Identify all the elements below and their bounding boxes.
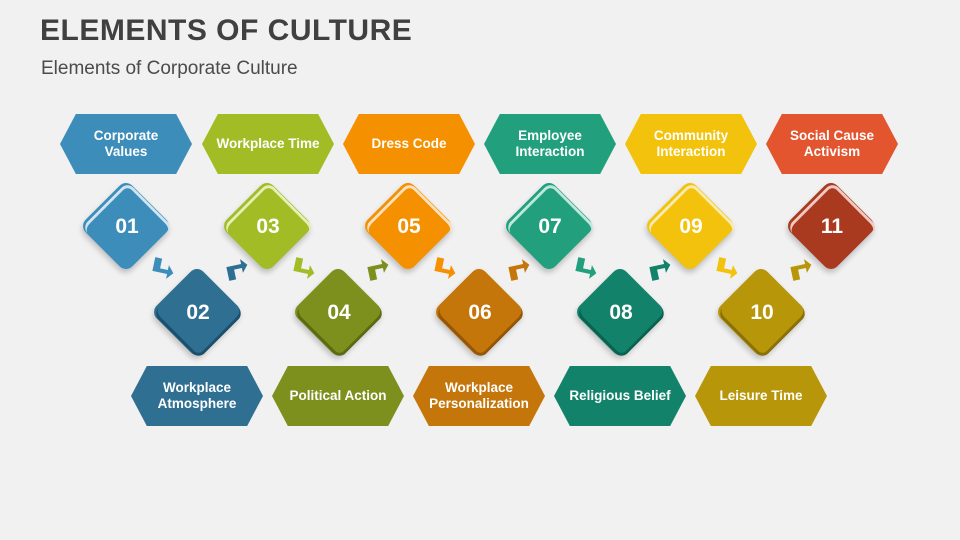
hex-label-text: Leisure Time — [707, 388, 814, 404]
diamond-number: 05 — [375, 193, 443, 261]
diamond-04[interactable]: 04 — [304, 278, 372, 346]
diamond-number: 09 — [657, 193, 725, 261]
hex-label-text: Corporate Values — [60, 128, 192, 160]
hex-label-leisure-time[interactable]: Leisure Time — [695, 366, 827, 426]
diamond-09[interactable]: 09 — [656, 192, 724, 260]
hex-label-text: Workplace Atmosphere — [131, 380, 263, 412]
hex-label-workplace-atmosphere[interactable]: Workplace Atmosphere — [131, 366, 263, 426]
diamond-07[interactable]: 07 — [515, 192, 583, 260]
diamond-05[interactable]: 05 — [374, 192, 442, 260]
diamond-01[interactable]: 01 — [92, 192, 160, 260]
hex-label-workplace-time[interactable]: Workplace Time — [202, 114, 334, 174]
hex-label-text: Community Interaction — [625, 128, 757, 160]
hex-label-text: Religious Belief — [557, 388, 682, 404]
diamond-11[interactable]: 11 — [797, 192, 865, 260]
page-subtitle: Elements of Corporate Culture — [41, 58, 298, 80]
hex-label-community-interaction[interactable]: Community Interaction — [625, 114, 757, 174]
diamond-number: 03 — [234, 193, 302, 261]
diamond-10[interactable]: 10 — [727, 278, 795, 346]
hex-label-dress-code[interactable]: Dress Code — [343, 114, 475, 174]
hex-label-employee-interaction[interactable]: Employee Interaction — [484, 114, 616, 174]
diamond-number: 10 — [728, 279, 796, 347]
diamond-number: 04 — [305, 279, 373, 347]
diamond-number: 07 — [516, 193, 584, 261]
hex-label-social-cause-activism[interactable]: Social Cause Activism — [766, 114, 898, 174]
hex-label-text: Dress Code — [359, 136, 458, 152]
hex-label-text: Workplace Personalization — [413, 380, 545, 412]
diamond-number: 08 — [587, 279, 655, 347]
diamond-06[interactable]: 06 — [445, 278, 513, 346]
diamond-03[interactable]: 03 — [233, 192, 301, 260]
hex-label-political-action[interactable]: Political Action — [272, 366, 404, 426]
hex-label-corporate-values[interactable]: Corporate Values — [60, 114, 192, 174]
hex-label-text: Workplace Time — [204, 136, 331, 152]
hex-label-workplace-personalization[interactable]: Workplace Personalization — [413, 366, 545, 426]
hex-label-text: Employee Interaction — [484, 128, 616, 160]
hex-label-text: Social Cause Activism — [766, 128, 898, 160]
diamond-number: 06 — [446, 279, 514, 347]
hex-label-religious-belief[interactable]: Religious Belief — [554, 366, 686, 426]
diamond-number: 11 — [798, 193, 866, 261]
diamond-number: 01 — [93, 193, 161, 261]
diamond-number: 02 — [164, 279, 232, 347]
diamond-08[interactable]: 08 — [586, 278, 654, 346]
diamond-02[interactable]: 02 — [163, 278, 231, 346]
page-title: ELEMENTS OF CULTURE — [40, 14, 412, 48]
slide-canvas: ELEMENTS OF CULTURE Elements of Corporat… — [0, 0, 960, 540]
hex-label-text: Political Action — [277, 388, 398, 404]
